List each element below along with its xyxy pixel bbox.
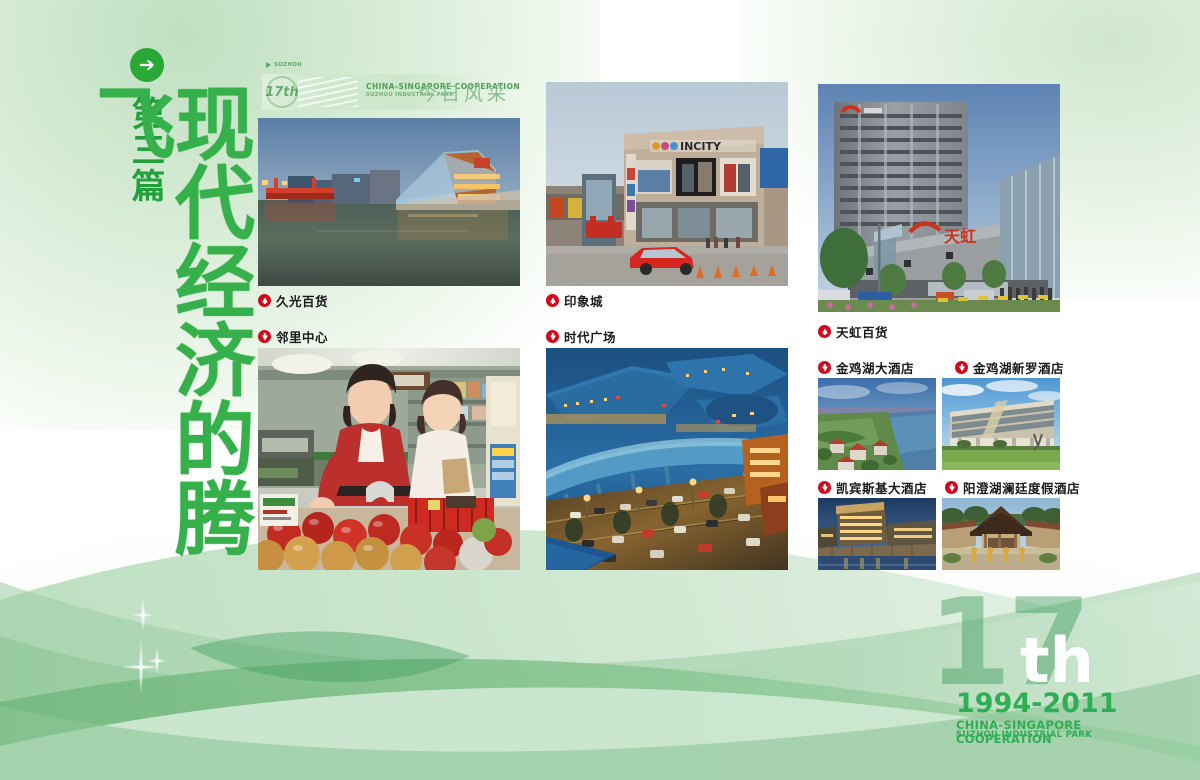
arrow-up-icon: [258, 294, 271, 307]
caption-label: 天虹百货: [836, 322, 888, 341]
sparkle-star-small: [132, 598, 154, 632]
photo-tianhong: 天虹: [818, 84, 1060, 312]
svg-text:天虹: 天虹: [944, 227, 976, 246]
photo-hotel-jinjihu: [818, 378, 936, 470]
anniversary-org-line2: SUZHOU INDUSTRIAL PARK: [956, 730, 1092, 740]
anniversary-mark: 17 th 1994-2011 CHINA-SINGAPORE COOPERAT…: [928, 592, 1148, 742]
arrow-down-icon: [945, 481, 958, 494]
sparkle-star-tiny: [148, 648, 166, 674]
photo-linli: [258, 348, 520, 570]
header-banner: 17th CHINA-SINGAPORE COOPERATION SUZHOU …: [262, 74, 522, 110]
suzhou-tag-label: SUZHOU: [274, 62, 302, 68]
arrow-down-icon: [258, 330, 271, 343]
caption-label: 金鸡湖新罗酒店: [973, 358, 1064, 377]
svg-text:INCITY: INCITY: [680, 140, 722, 153]
caption-label: 阳澄湖澜廷度假酒店: [963, 478, 1080, 497]
caption-label: 久光百货: [276, 291, 328, 310]
caption-linli: 邻里中心: [258, 327, 328, 346]
anniversary-years: 1994-2011: [956, 688, 1118, 719]
page-title: 现代经济的腾飞: [158, 82, 248, 558]
caption-label: 印象城: [564, 291, 603, 310]
photo-times-square: [546, 348, 788, 570]
caption-incity: 印象城: [546, 291, 603, 310]
arrow-down-icon: [955, 361, 968, 374]
caption-times-square: 时代广场: [546, 327, 616, 346]
section-title-block: ➔ 第三篇 现代经济的腾飞: [112, 48, 244, 558]
anniversary-suffix: th: [1020, 630, 1094, 692]
banner-chinese-title: 今日风采: [418, 79, 510, 106]
caption-jiuguang: 久光百货: [258, 291, 328, 310]
caption-hotel-yangcheng: 阳澄湖澜廷度假酒店: [945, 478, 1080, 497]
caption-label: 时代广场: [564, 327, 616, 346]
photo-incity: INCITY: [546, 82, 788, 286]
circular-arrow-icon: ➔: [130, 48, 164, 82]
caption-label: 金鸡湖大酒店: [836, 358, 914, 377]
arrow-down-icon: [818, 481, 831, 494]
caption-hotel-jinjihu: 金鸡湖大酒店: [818, 358, 914, 377]
arrow-up-icon: [546, 294, 559, 307]
caption-tianhong: 天虹百货: [818, 322, 888, 341]
photo-hotel-kempinski: [818, 498, 936, 570]
brochure-page: ➔ 第三篇 现代经济的腾飞 SUZHOU 17th CHINA-SINGAPOR…: [0, 0, 1200, 780]
photo-hotel-yangcheng: [942, 498, 1060, 570]
caption-label: 邻里中心: [276, 327, 328, 346]
triangle-marker-icon: [266, 62, 271, 68]
caption-hotel-kempinski: 凯宾斯基大酒店: [818, 478, 927, 497]
photo-jiuguang: [258, 118, 520, 286]
sparkle-star-large: [120, 638, 162, 696]
arrow-down-icon: [546, 330, 559, 343]
caption-label: 凯宾斯基大酒店: [836, 478, 927, 497]
arrow-up-icon: [818, 325, 831, 338]
photo-hotel-shilla: [942, 378, 1060, 470]
anniversary-seal-icon: 17th: [266, 76, 298, 108]
suzhou-corner-tag: SUZHOU: [266, 62, 302, 68]
arrow-down-icon: [818, 361, 831, 374]
caption-hotel-shilla: 金鸡湖新罗酒店: [955, 358, 1064, 377]
banner-swoosh-decoration: [298, 77, 358, 107]
